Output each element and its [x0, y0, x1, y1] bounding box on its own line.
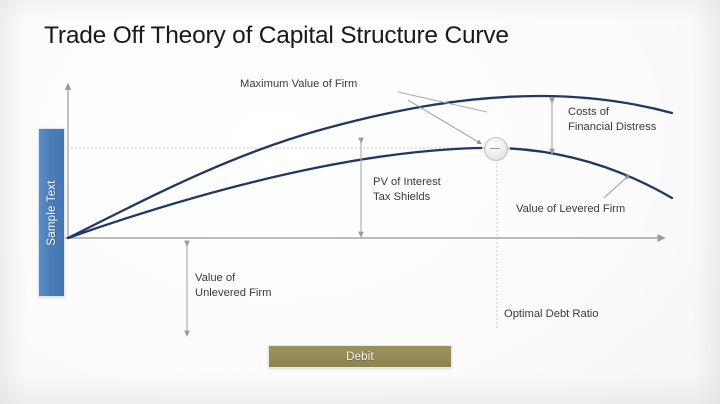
slide-canvas: Trade Off Theory of Capital Structure Cu…: [0, 0, 720, 404]
minus-icon: [490, 148, 500, 150]
annotation-costs-of-financial-distress: Costs of Financial Distress: [568, 105, 656, 135]
annotation-optimal-debt-ratio: Optimal Debt Ratio: [504, 307, 599, 322]
y-axis-label: Sample Text: [46, 180, 58, 245]
annotation-value-of-levered-firm: Value of Levered Firm: [516, 202, 625, 217]
annotation-maximum-value-of-firm: Maximum Value of Firm: [240, 77, 357, 92]
y-axis-label-box[interactable]: Sample Text: [38, 128, 65, 297]
annotation-value-of-unlevered-firm: Value of Unlevered Firm: [195, 271, 271, 301]
x-axis-label: Debit: [346, 351, 374, 363]
optimal-point-marker[interactable]: [484, 137, 508, 161]
leader-arrow-value-of-levered-firm: [604, 176, 628, 198]
x-axis-label-box[interactable]: Debit: [268, 345, 452, 368]
leader-arrow-to-marker: [408, 100, 480, 143]
annotation-pv-of-interest-tax-shields: PV of Interest Tax Shields: [373, 175, 441, 205]
